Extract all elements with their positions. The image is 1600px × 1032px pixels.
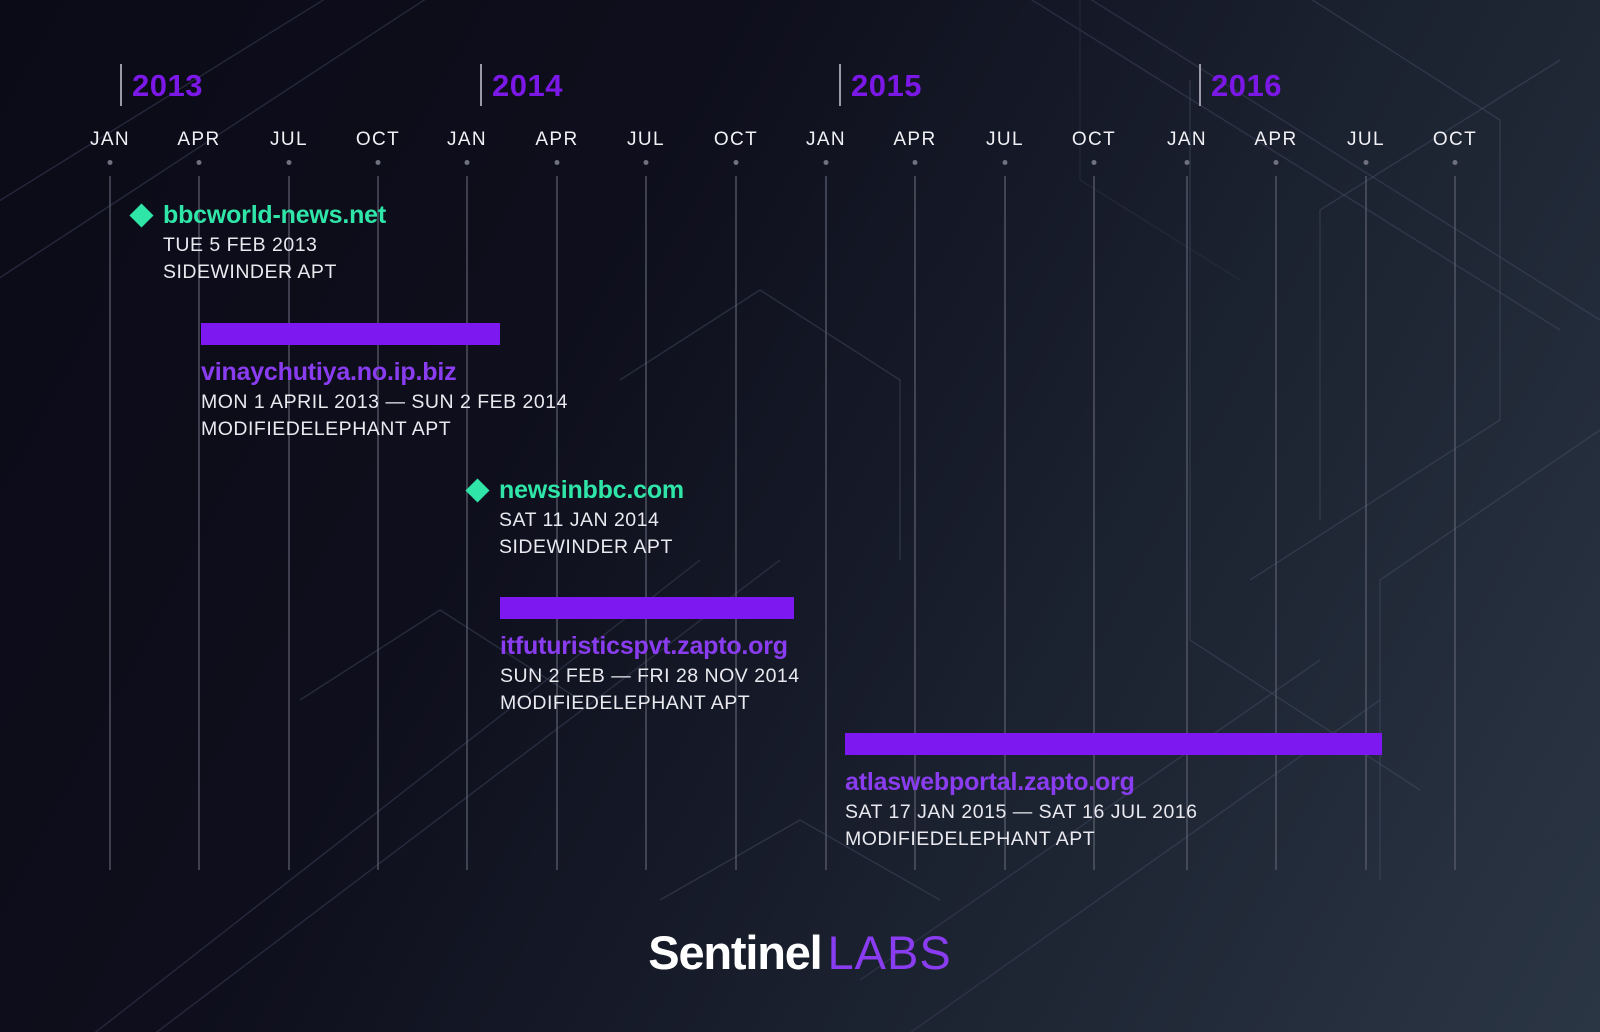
event-header: itfuturisticspvt.zapto.org [500, 632, 800, 661]
event-range-bar[interactable] [845, 733, 1382, 755]
month-label: JAN [1167, 129, 1207, 151]
grid-line [1004, 176, 1006, 870]
year-tick [120, 64, 122, 106]
month-label: APR [893, 129, 936, 151]
month-dot [1274, 160, 1279, 165]
month-dot [913, 160, 918, 165]
year-label: 2016 [1211, 68, 1282, 104]
event-range-bar[interactable] [500, 597, 794, 619]
event-date-range: TUE 5 FEB 2013 [133, 234, 386, 257]
month-dot [1185, 160, 1190, 165]
event-header: newsinbbc.com [469, 476, 684, 505]
year-tick [1199, 64, 1201, 106]
event-threat-actor: SIDEWINDER APT [133, 261, 386, 284]
grid-line [1365, 176, 1367, 870]
diamond-marker-icon [129, 203, 153, 227]
month-dot [644, 160, 649, 165]
grid-line [914, 176, 916, 870]
month-dot [287, 160, 292, 165]
month-dot [465, 160, 470, 165]
grid-line [109, 176, 111, 870]
event-header: atlaswebportal.zapto.org [845, 768, 1198, 797]
month-dot [824, 160, 829, 165]
month-dot [376, 160, 381, 165]
month-label: JUL [627, 129, 665, 151]
month-dot [1364, 160, 1369, 165]
background-decoration [0, 0, 1600, 1032]
month-dot [555, 160, 560, 165]
month-label: APR [177, 129, 220, 151]
grid-line [735, 176, 737, 870]
sentinel-labs-logo: Sentinel LABS [0, 925, 1600, 980]
month-dot [108, 160, 113, 165]
month-label: OCT [356, 129, 400, 151]
event-threat-actor: SIDEWINDER APT [469, 536, 684, 559]
event-domain-title[interactable]: atlaswebportal.zapto.org [845, 768, 1135, 797]
year-tick [480, 64, 482, 106]
event-domain-title[interactable]: itfuturisticspvt.zapto.org [500, 632, 788, 661]
month-dot [1003, 160, 1008, 165]
timeline-event[interactable]: atlaswebportal.zapto.orgSAT 17 JAN 2015 … [845, 768, 1198, 851]
month-label: OCT [1072, 129, 1116, 151]
year-label: 2013 [132, 68, 203, 104]
event-range-bar[interactable] [201, 323, 500, 345]
event-domain-title[interactable]: bbcworld-news.net [163, 201, 386, 230]
grid-line [1093, 176, 1095, 870]
month-label: JAN [447, 129, 487, 151]
timeline-event[interactable]: newsinbbc.comSAT 11 JAN 2014SIDEWINDER A… [469, 476, 684, 559]
month-dot [1453, 160, 1458, 165]
timeline-event[interactable]: itfuturisticspvt.zapto.orgSUN 2 FEB — FR… [500, 632, 800, 715]
timeline-infographic: 2013201420152016JANAPRJULOCTJANAPRJULOCT… [0, 0, 1600, 1032]
month-dot [197, 160, 202, 165]
month-dot [734, 160, 739, 165]
grid-line [1275, 176, 1277, 870]
event-date-range: SUN 2 FEB — FRI 28 NOV 2014 [500, 665, 800, 688]
event-header: vinaychutiya.no.ip.biz [201, 358, 568, 387]
month-label: JAN [90, 129, 130, 151]
event-threat-actor: MODIFIEDELEPHANT APT [201, 418, 568, 441]
timeline-event[interactable]: vinaychutiya.no.ip.bizMON 1 APRIL 2013 —… [201, 358, 568, 441]
month-dot [1092, 160, 1097, 165]
grid-line [1454, 176, 1456, 870]
month-label: APR [1254, 129, 1297, 151]
grid-line [1186, 176, 1188, 870]
month-label: APR [535, 129, 578, 151]
month-label: JUL [986, 129, 1024, 151]
diamond-marker-icon [465, 478, 489, 502]
timeline-event[interactable]: bbcworld-news.netTUE 5 FEB 2013SIDEWINDE… [133, 201, 386, 284]
logo-primary-text: Sentinel [648, 925, 821, 980]
month-label: JAN [806, 129, 846, 151]
grid-line [466, 176, 468, 870]
event-domain-title[interactable]: newsinbbc.com [499, 476, 684, 505]
event-date-range: SAT 11 JAN 2014 [469, 509, 684, 532]
year-label: 2014 [492, 68, 563, 104]
logo-secondary-text: LABS [828, 925, 952, 980]
event-header: bbcworld-news.net [133, 201, 386, 230]
year-label: 2015 [851, 68, 922, 104]
month-label: OCT [1433, 129, 1477, 151]
event-threat-actor: MODIFIEDELEPHANT APT [845, 828, 1198, 851]
month-label: JUL [270, 129, 308, 151]
event-date-range: MON 1 APRIL 2013 — SUN 2 FEB 2014 [201, 391, 568, 414]
year-tick [839, 64, 841, 106]
grid-line [825, 176, 827, 870]
event-domain-title[interactable]: vinaychutiya.no.ip.biz [201, 358, 456, 387]
month-label: OCT [714, 129, 758, 151]
month-label: JUL [1347, 129, 1385, 151]
event-date-range: SAT 17 JAN 2015 — SAT 16 JUL 2016 [845, 801, 1198, 824]
event-threat-actor: MODIFIEDELEPHANT APT [500, 692, 800, 715]
